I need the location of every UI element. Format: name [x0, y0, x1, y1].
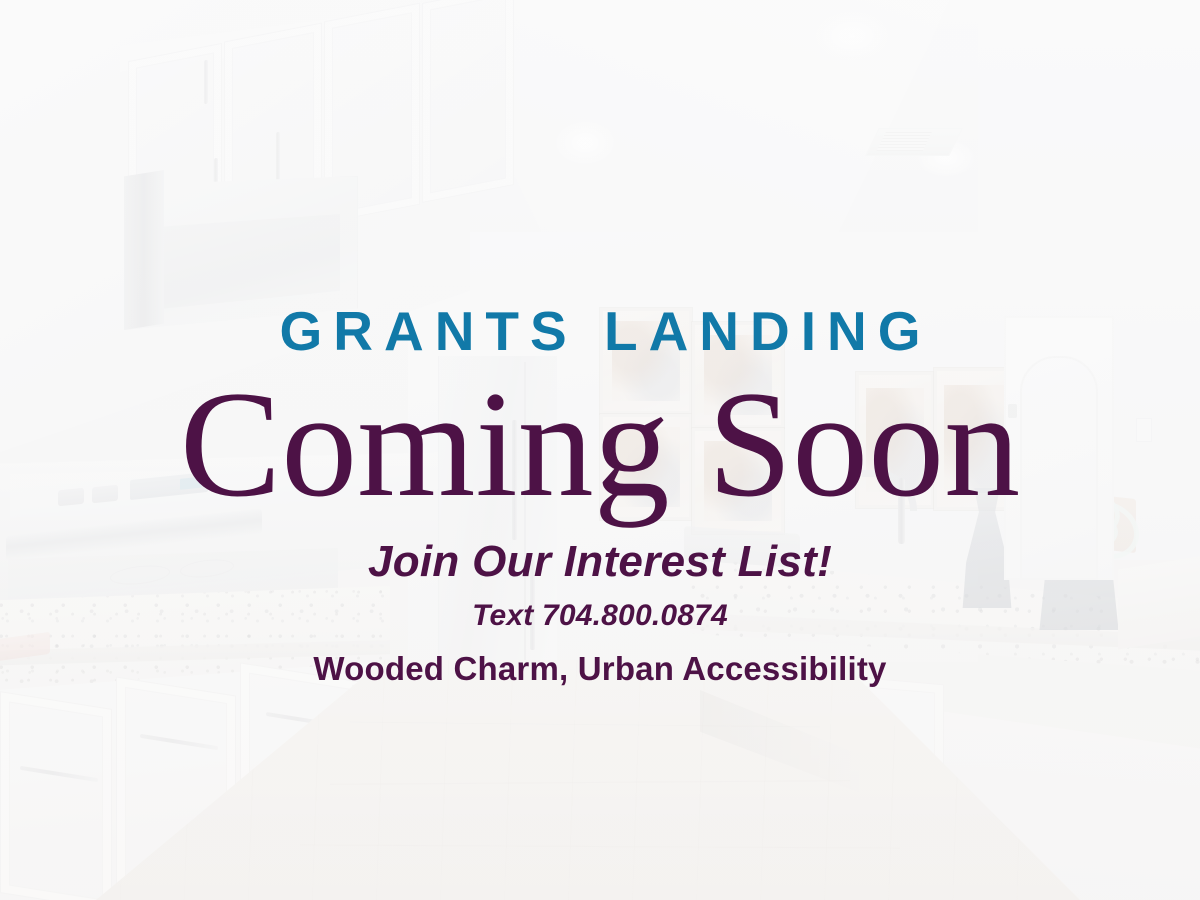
text-phone-number[interactable]: Text 704.800.0874: [472, 601, 728, 631]
community-tagline: Wooded Charm, Urban Accessibility: [313, 652, 886, 685]
coming-soon-banner: GRANTS LANDING Coming Soon Join Our Inte…: [0, 0, 1200, 900]
banner-text-overlay: GRANTS LANDING Coming Soon Join Our Inte…: [0, 0, 1200, 900]
interest-list-cta: Join Our Interest List!: [368, 540, 832, 584]
community-name: GRANTS LANDING: [268, 304, 931, 359]
page-title: Coming Soon: [180, 367, 1020, 522]
